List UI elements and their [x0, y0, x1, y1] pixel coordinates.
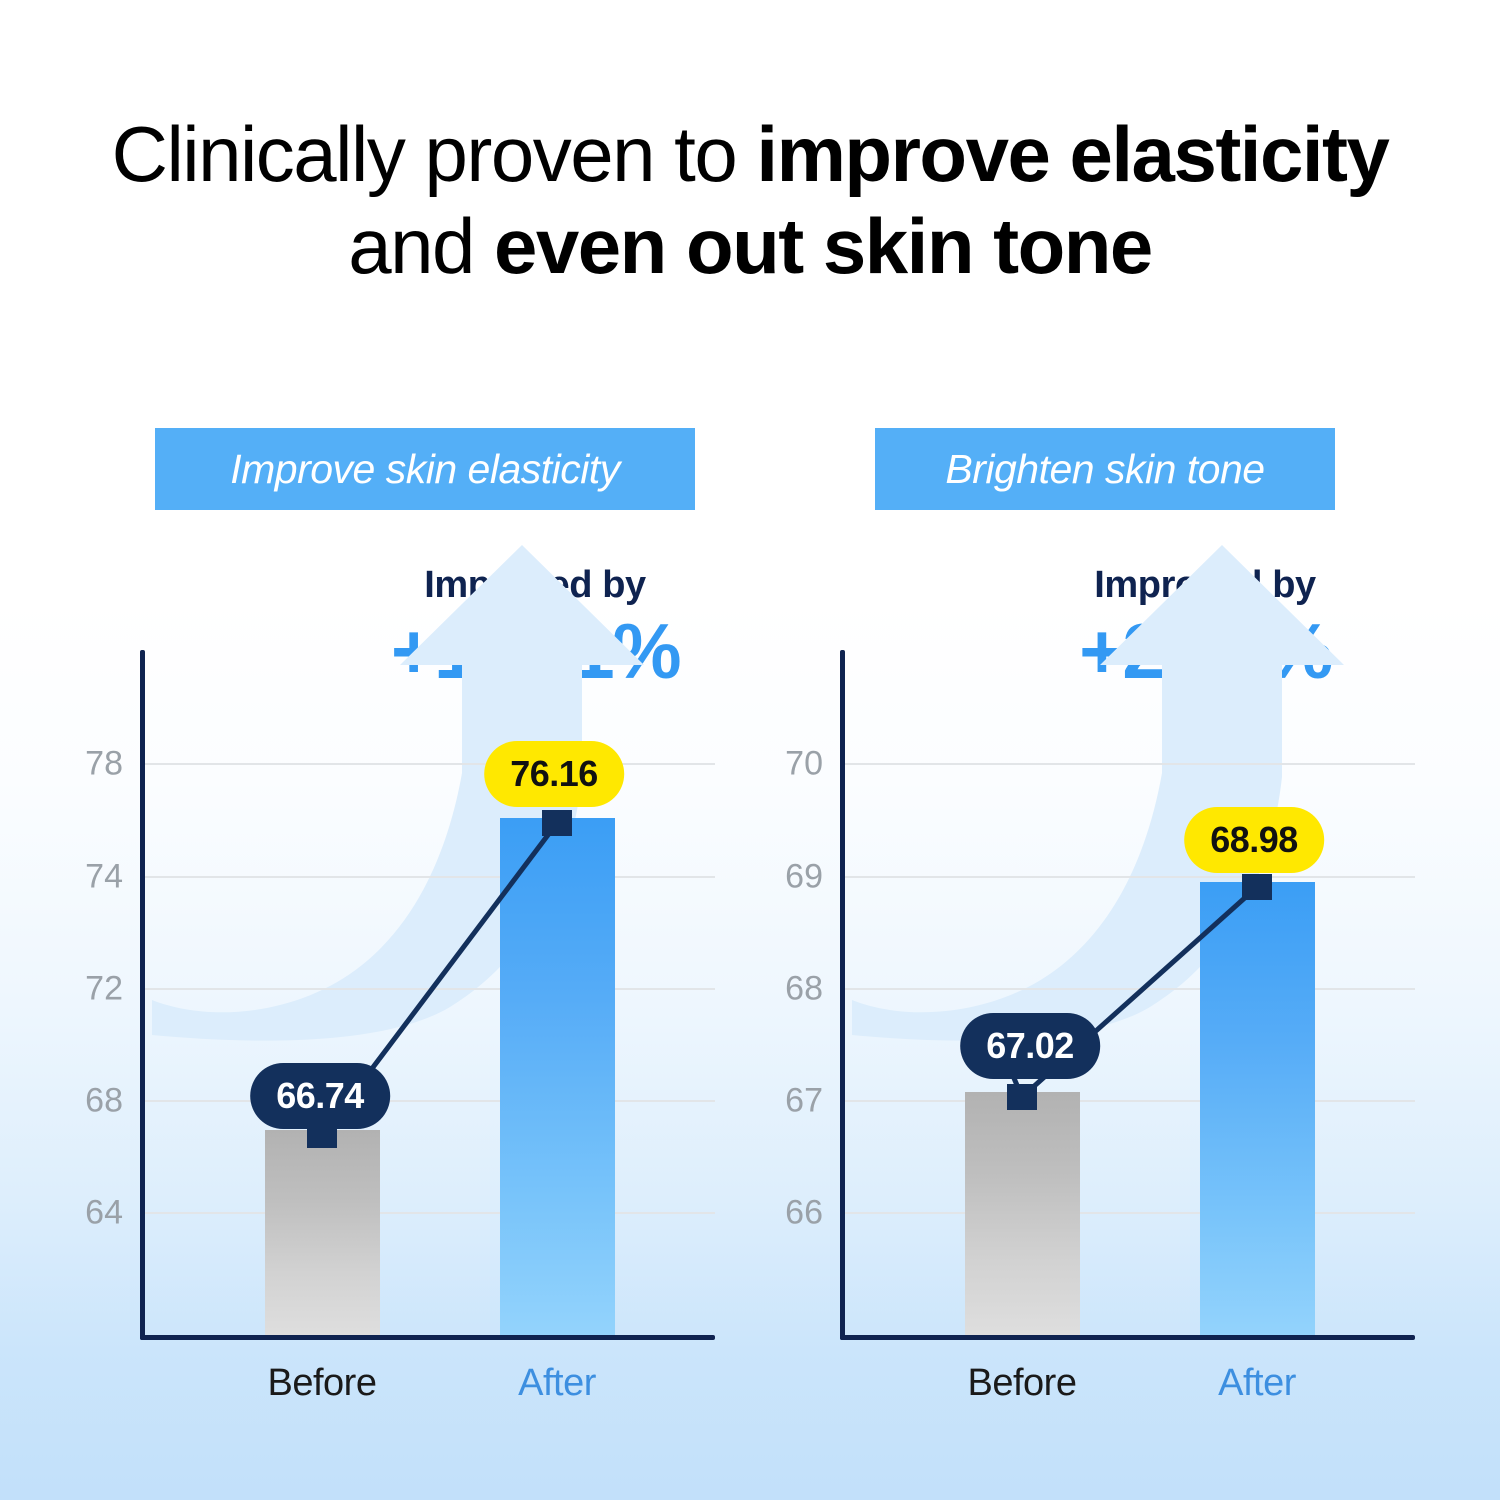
- chart-plot-elasticity: 78 74 72 68 64 66.74 76.16 Before After: [140, 650, 715, 1340]
- data-point-marker-after: [542, 810, 572, 836]
- gridline: 67: [845, 1100, 1415, 1102]
- gridline: 64: [145, 1212, 715, 1214]
- chart-banner-skintone: Brighten skin tone: [875, 428, 1335, 510]
- y-tick-label: 70: [785, 745, 823, 784]
- gridline: 66: [845, 1212, 1415, 1214]
- bar-after: [1200, 882, 1315, 1335]
- trend-connector-line: [840, 650, 1415, 1340]
- chart-plot-skintone: 70 69 68 67 66 67.02 68.98 Before After: [840, 650, 1415, 1340]
- gridline: 69: [845, 876, 1415, 878]
- bar-before: [265, 1130, 380, 1335]
- x-label-after: After: [518, 1362, 596, 1405]
- bar-after: [500, 818, 615, 1335]
- gridline: 74: [145, 876, 715, 878]
- chart-banner-label: Improve skin elasticity: [230, 446, 620, 493]
- y-tick-label: 74: [85, 858, 123, 897]
- bar-before: [965, 1092, 1080, 1335]
- value-pill-after: 68.98: [1184, 807, 1324, 873]
- trend-connector-line: [140, 650, 715, 1340]
- value-pill-before: 67.02: [960, 1013, 1100, 1079]
- gridline: 68: [145, 1100, 715, 1102]
- chart-banner-elasticity: Improve skin elasticity: [155, 428, 695, 510]
- improvement-label: Improved by: [355, 566, 715, 604]
- gridline: 78: [145, 763, 715, 765]
- chart-banner-label: Brighten skin tone: [945, 446, 1264, 493]
- y-tick-label: 68: [85, 1082, 123, 1121]
- y-tick-label: 78: [85, 745, 123, 784]
- x-axis-line: [140, 1335, 715, 1340]
- chart-panel-elasticity: Improve skin elasticity Improved by +14.…: [0, 0, 750, 1500]
- gridline: 68: [845, 988, 1415, 990]
- data-point-marker-before: [1007, 1084, 1037, 1110]
- x-axis-line: [840, 1335, 1415, 1340]
- x-label-after: After: [1218, 1362, 1296, 1405]
- gridline: 72: [145, 988, 715, 990]
- data-point-marker-after: [1242, 874, 1272, 900]
- y-tick-label: 66: [785, 1194, 823, 1233]
- improvement-label: Improved by: [1025, 566, 1385, 604]
- y-tick-label: 64: [85, 1194, 123, 1233]
- y-tick-label: 69: [785, 858, 823, 897]
- gridline: 70: [845, 763, 1415, 765]
- y-tick-label: 68: [785, 970, 823, 1009]
- value-pill-before: 66.74: [250, 1063, 390, 1129]
- y-axis-line: [840, 650, 845, 1340]
- y-tick-label: 67: [785, 1082, 823, 1121]
- y-tick-label: 72: [85, 970, 123, 1009]
- x-label-before: Before: [968, 1362, 1077, 1405]
- chart-panel-skintone: Brighten skin tone Improved by +2.92% 70…: [750, 0, 1500, 1500]
- value-pill-after: 76.16: [484, 741, 624, 807]
- y-axis-line: [140, 650, 145, 1340]
- x-label-before: Before: [268, 1362, 377, 1405]
